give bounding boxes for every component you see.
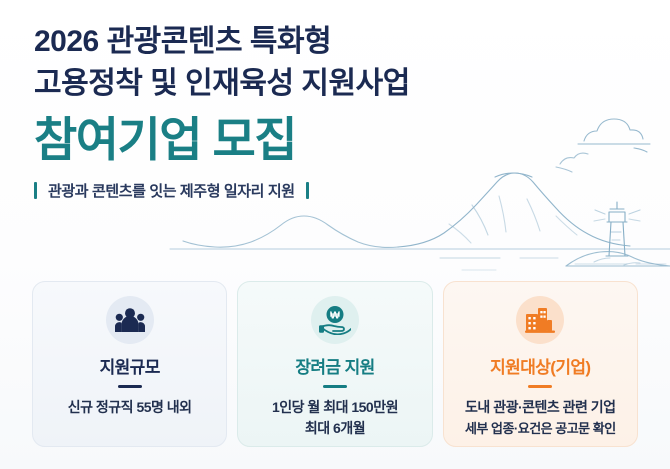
office-buildings-icon	[525, 306, 555, 334]
divider-bar-right	[306, 182, 309, 199]
sea-horizon-lines	[170, 249, 670, 270]
card-body-line1: 1인당 월 최대 150만원	[272, 397, 398, 418]
card-body-line2: 세부 업종·요건은 공고문 확인	[465, 418, 616, 439]
subtitle-text: 관광과 콘텐츠를 잇는 제주형 일자리 지원	[48, 180, 295, 201]
card-body: 신규 정규직 55명 내외	[68, 397, 192, 418]
card-divider	[118, 385, 142, 388]
info-card-row: 지원규모 신규 정규직 55명 내외 ₩ 장려금 지원 1인당 월 최대 150…	[32, 281, 638, 447]
card-body: 1인당 월 최대 150만원 최대 6개월	[272, 397, 398, 439]
card-eligible-companies[interactable]: 지원대상(기업) 도내 관광·콘텐츠 관련 기업 세부 업종·요건은 공고문 확…	[443, 281, 638, 447]
people-group-icon	[115, 307, 145, 333]
card-divider	[323, 385, 347, 388]
foothills-icon	[183, 216, 398, 247]
card-divider	[528, 385, 552, 388]
card-title: 장려금 지원	[295, 353, 374, 378]
card-incentive-support[interactable]: ₩ 장려금 지원 1인당 월 최대 150만원 최대 6개월	[237, 281, 432, 447]
divider-bar-left	[34, 182, 37, 199]
card-title: 지원대상(기업)	[490, 353, 590, 378]
icon-circle	[106, 296, 154, 344]
card-support-scale[interactable]: 지원규모 신규 정규직 55명 내외	[32, 281, 227, 447]
card-body-line1: 도내 관광·콘텐츠 관련 기업	[465, 397, 616, 418]
card-title: 지원규모	[100, 353, 160, 378]
svg-text:₩: ₩	[330, 310, 340, 322]
icon-circle	[516, 296, 564, 344]
headline-block: 2026 관광콘텐츠 특화형 고용정착 및 인재육성 지원사업 참여기업 모집 …	[34, 22, 634, 201]
card-body: 도내 관광·콘텐츠 관련 기업 세부 업종·요건은 공고문 확인	[465, 397, 616, 439]
islet-icon	[566, 252, 670, 266]
hand-holding-won-coin-icon: ₩	[319, 305, 351, 335]
poster-canvas: 2026 관광콘텐츠 특화형 고용정착 및 인재육성 지원사업 참여기업 모집 …	[0, 0, 670, 469]
card-body-line1: 신규 정규직 55명 내외	[68, 397, 192, 418]
subtitle-row: 관광과 콘텐츠를 잇는 제주형 일자리 지원	[34, 180, 634, 201]
card-body-line2: 최대 6개월	[272, 418, 398, 439]
icon-circle: ₩	[311, 296, 359, 344]
lighthouse-icon	[594, 202, 640, 256]
headline-line1: 2026 관광콘텐츠 특화형	[34, 22, 634, 62]
headline-main: 참여기업 모집	[34, 110, 634, 170]
headline-line2: 고용정착 및 인재육성 지원사업	[34, 64, 634, 104]
